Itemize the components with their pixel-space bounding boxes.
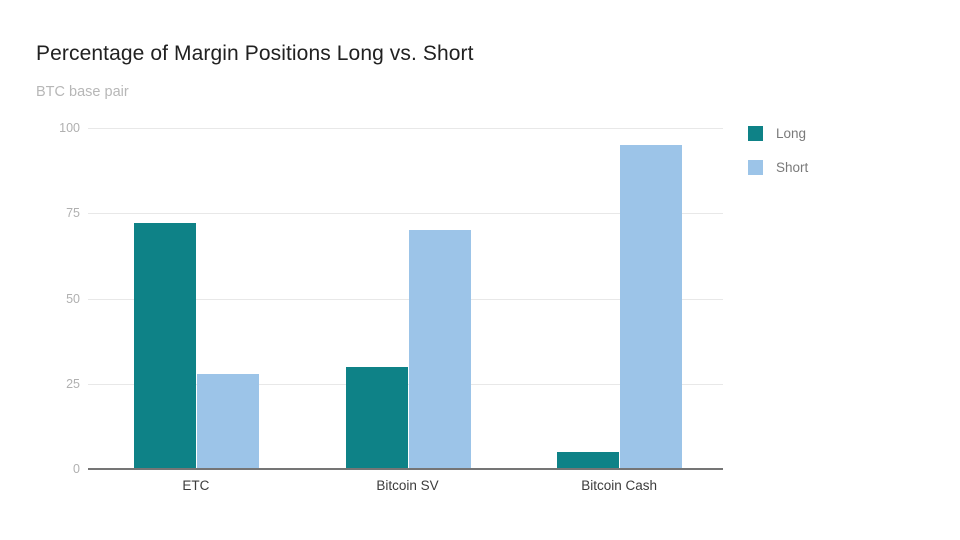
- bar-group-bitcoin-cash: [557, 128, 681, 469]
- bar-short-bitcoin-cash[interactable]: [620, 145, 682, 469]
- bar-chart: Percentage of Margin Positions Long vs. …: [0, 0, 960, 540]
- bar-short-bitcoin-sv[interactable]: [409, 230, 471, 469]
- chart-subtitle: BTC base pair: [36, 84, 129, 100]
- legend-label: Short: [776, 160, 808, 175]
- bar-long-bitcoin-cash[interactable]: [557, 452, 619, 469]
- legend-item-long[interactable]: Long: [748, 120, 908, 146]
- legend-label: Long: [776, 126, 806, 141]
- x-axis: ETCBitcoin SVBitcoin Cash: [88, 478, 723, 506]
- bar-long-bitcoin-sv[interactable]: [346, 367, 408, 469]
- plot-area: [88, 128, 723, 469]
- y-axis-tick-label: 50: [36, 292, 80, 306]
- y-axis-tick-label: 75: [36, 206, 80, 220]
- legend-swatch-icon: [748, 160, 763, 175]
- chart-legend: LongShort: [748, 120, 908, 188]
- y-axis-tick-label: 100: [36, 121, 80, 135]
- bar-long-etc[interactable]: [134, 223, 196, 469]
- bar-short-etc[interactable]: [197, 374, 259, 469]
- chart-title: Percentage of Margin Positions Long vs. …: [36, 42, 474, 66]
- y-axis-tick-label: 25: [36, 377, 80, 391]
- y-axis-tick-label: 0: [36, 462, 80, 476]
- legend-swatch-icon: [748, 126, 763, 141]
- x-axis-baseline: [88, 468, 723, 470]
- x-axis-tick-label: ETC: [116, 478, 276, 493]
- legend-item-short[interactable]: Short: [748, 154, 908, 180]
- bar-group-etc: [134, 128, 258, 469]
- y-axis: 0255075100: [0, 128, 80, 469]
- bar-group-bitcoin-sv: [346, 128, 470, 469]
- x-axis-tick-label: Bitcoin Cash: [539, 478, 699, 493]
- x-axis-tick-label: Bitcoin SV: [328, 478, 488, 493]
